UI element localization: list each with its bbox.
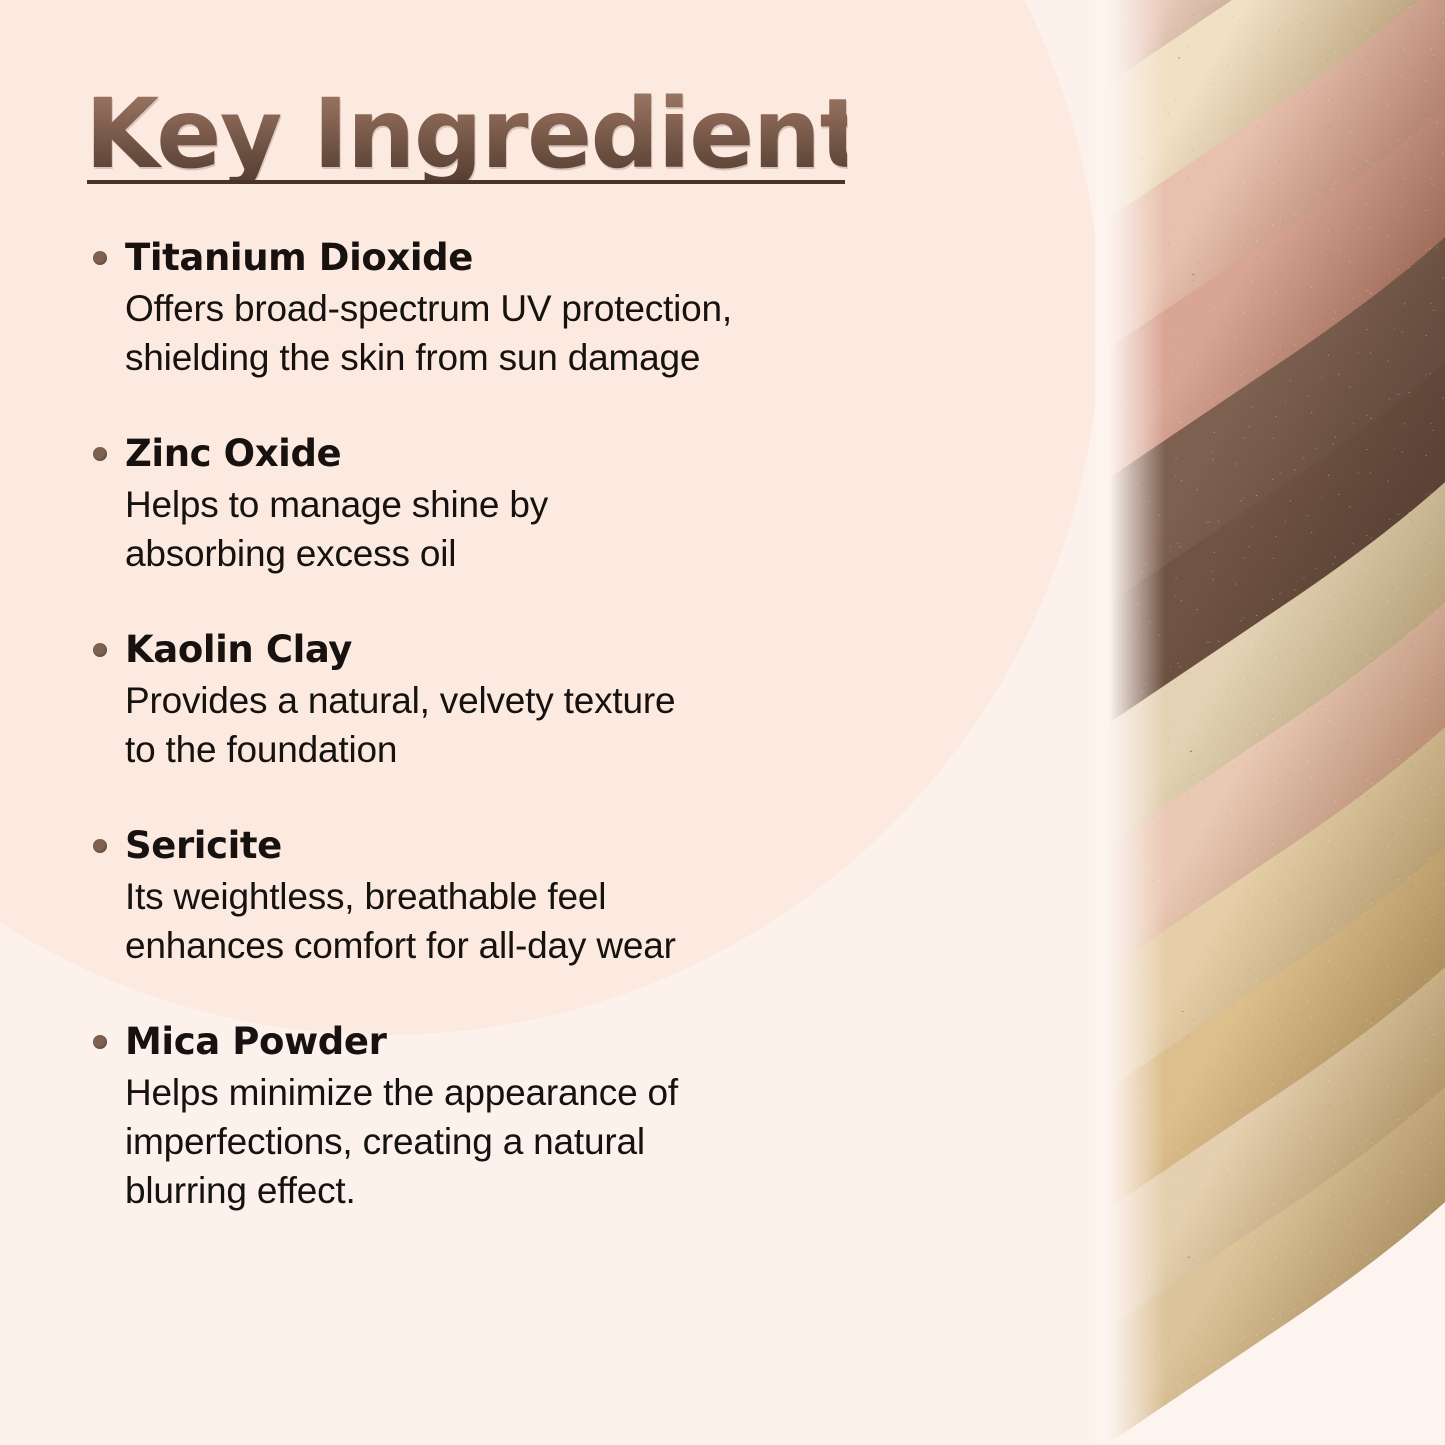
ingredient-description: Offers broad-spectrum UV protection, shi… (125, 285, 965, 383)
ingredient-description: Its weightless, breathable feel enhances… (125, 873, 965, 971)
ingredient-name: Zinc Oxide (125, 430, 965, 477)
loose-powder-crumbs (1095, 0, 1215, 1445)
powder-texture-photo (1095, 0, 1445, 1445)
ingredient-name: Titanium Dioxide (125, 234, 965, 281)
list-item: Titanium Dioxide Offers broad-spectrum U… (85, 234, 965, 383)
content-column: Key Ingredients Titanium Dioxide Offers … (0, 0, 1090, 1445)
list-item: Kaolin Clay Provides a natural, velvety … (85, 626, 965, 775)
bullet-dot-icon (93, 251, 107, 265)
ingredient-description: Provides a natural, velvety texture to t… (125, 677, 965, 775)
ingredient-name: Sericite (125, 822, 965, 869)
ingredient-list: Titanium Dioxide Offers broad-spectrum U… (85, 234, 965, 1216)
list-item: Mica Powder Helps minimize the appearanc… (85, 1018, 965, 1216)
ingredient-description: Helps minimize the appearance of imperfe… (125, 1069, 965, 1215)
list-item: Zinc Oxide Helps to manage shine by abso… (85, 430, 965, 579)
title-underline (87, 180, 845, 184)
ingredient-description: Helps to manage shine by absorbing exces… (125, 481, 965, 579)
list-item: Sericite Its weightless, breathable feel… (85, 822, 965, 971)
bullet-dot-icon (93, 447, 107, 461)
ingredient-name: Mica Powder (125, 1018, 965, 1065)
infographic-page: Key Ingredients Titanium Dioxide Offers … (0, 0, 1445, 1445)
bullet-dot-icon (93, 643, 107, 657)
title-block: Key Ingredients (85, 86, 847, 182)
page-title: Key Ingredients (85, 86, 847, 182)
bullet-dot-icon (93, 1035, 107, 1049)
ingredient-name: Kaolin Clay (125, 626, 965, 673)
bullet-dot-icon (93, 839, 107, 853)
